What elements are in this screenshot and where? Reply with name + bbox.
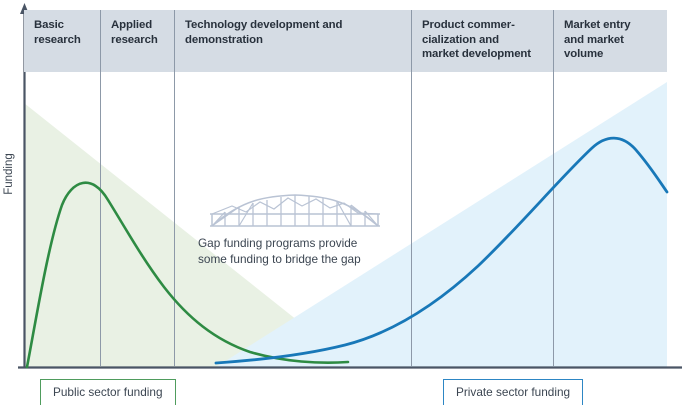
phase-label-line: Basic bbox=[34, 18, 100, 33]
legend-public-sector-funding: Public sector funding bbox=[40, 379, 176, 405]
phase-label-line: Product commer- bbox=[422, 18, 553, 33]
phase-label-line: research bbox=[111, 33, 174, 48]
phase-label-line: cialization and bbox=[422, 33, 553, 48]
phase-label-line: market development bbox=[422, 47, 553, 62]
phase-label-line: volume bbox=[564, 47, 667, 62]
phase-header-applied-research: Applied research bbox=[100, 10, 174, 72]
phase-header-product-commercialization: Product commer- cialization and market d… bbox=[411, 10, 553, 72]
phase-header-technology-development: Technology development and demonstration bbox=[174, 10, 411, 72]
phase-label-line: demonstration bbox=[185, 33, 411, 48]
gap-caption-line: some funding to bridge the gap bbox=[198, 252, 413, 268]
phase-header-market-entry: Market entry and market volume bbox=[553, 10, 667, 72]
phase-label-line: Applied bbox=[111, 18, 174, 33]
gap-funding-caption: Gap funding programs provide some fundin… bbox=[198, 236, 413, 267]
funding-gap-chart: Basic research Applied research Technolo… bbox=[0, 0, 685, 405]
truss-bridge-icon bbox=[210, 195, 380, 226]
phase-label-line: research bbox=[34, 33, 100, 48]
phase-header-band: Basic research Applied research Technolo… bbox=[24, 10, 667, 72]
phase-label-line: and market bbox=[564, 33, 667, 48]
phase-label-line: Technology development and bbox=[185, 18, 411, 33]
gap-caption-line: Gap funding programs provide bbox=[198, 236, 413, 252]
phase-header-basic-research: Basic research bbox=[24, 10, 100, 72]
y-axis-label: Funding bbox=[3, 144, 15, 204]
legend-private-sector-funding: Private sector funding bbox=[443, 379, 583, 405]
phase-label-line: Market entry bbox=[564, 18, 667, 33]
